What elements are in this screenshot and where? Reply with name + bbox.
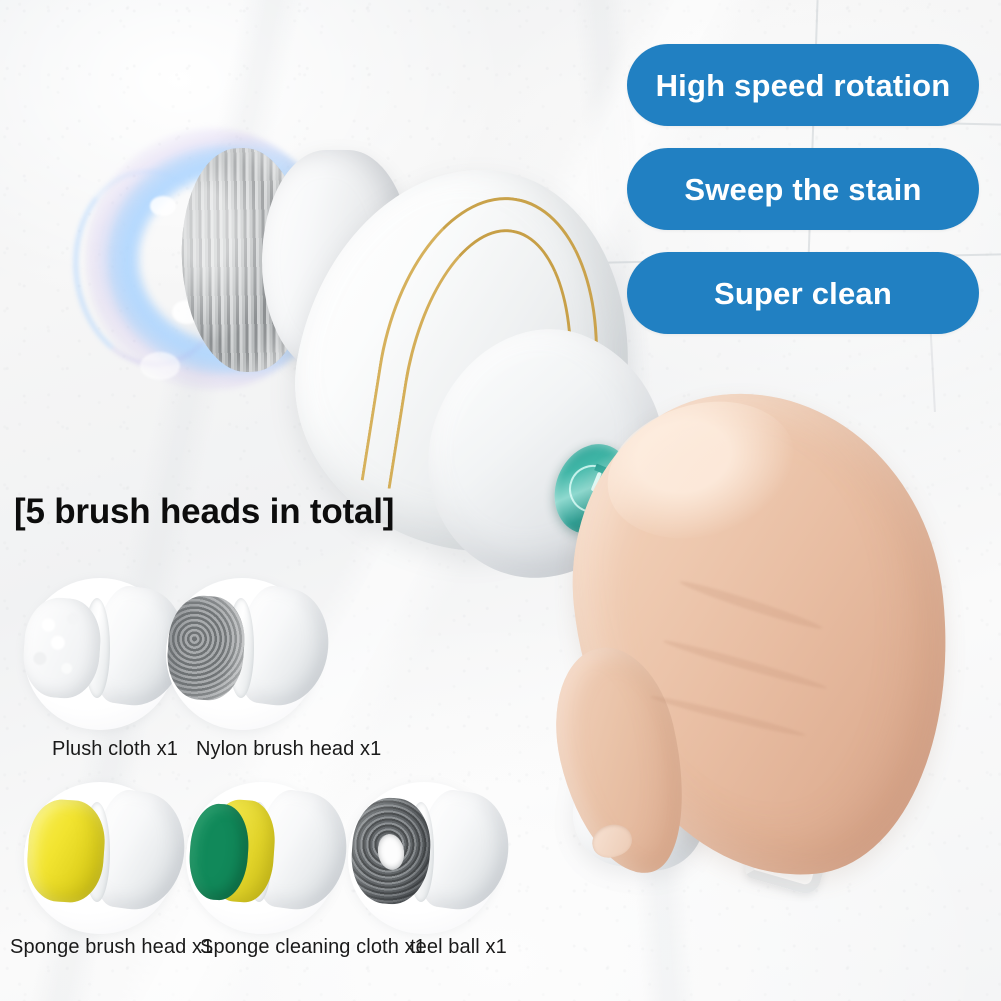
foam-bubble [150, 196, 176, 216]
accessory-label: Plush cloth x1 [52, 738, 178, 761]
accessory-label: Sponge cleaning cloth x1 [200, 936, 426, 959]
feature-badge-list: High speed rotation Sweep the stain Supe… [627, 44, 979, 356]
page-title: [5 brush heads in total] [14, 492, 394, 532]
badge-label: High speed rotation [656, 70, 951, 101]
accessory-label: teel ball x1 [410, 936, 507, 959]
foam-bubble [140, 352, 180, 380]
badge-label: Sweep the stain [684, 174, 921, 205]
accessory-label: Nylon brush head x1 [196, 738, 381, 761]
badge-label: Super clean [714, 278, 892, 309]
badge-super-clean[interactable]: Super clean [627, 252, 979, 334]
accessory-label: Sponge brush head x1 [10, 936, 213, 959]
badge-sweep-the-stain[interactable]: Sweep the stain [627, 148, 979, 230]
product-marketing-image: High speed rotation Sweep the stain Supe… [0, 0, 1001, 1001]
badge-high-speed-rotation[interactable]: High speed rotation [627, 44, 979, 126]
